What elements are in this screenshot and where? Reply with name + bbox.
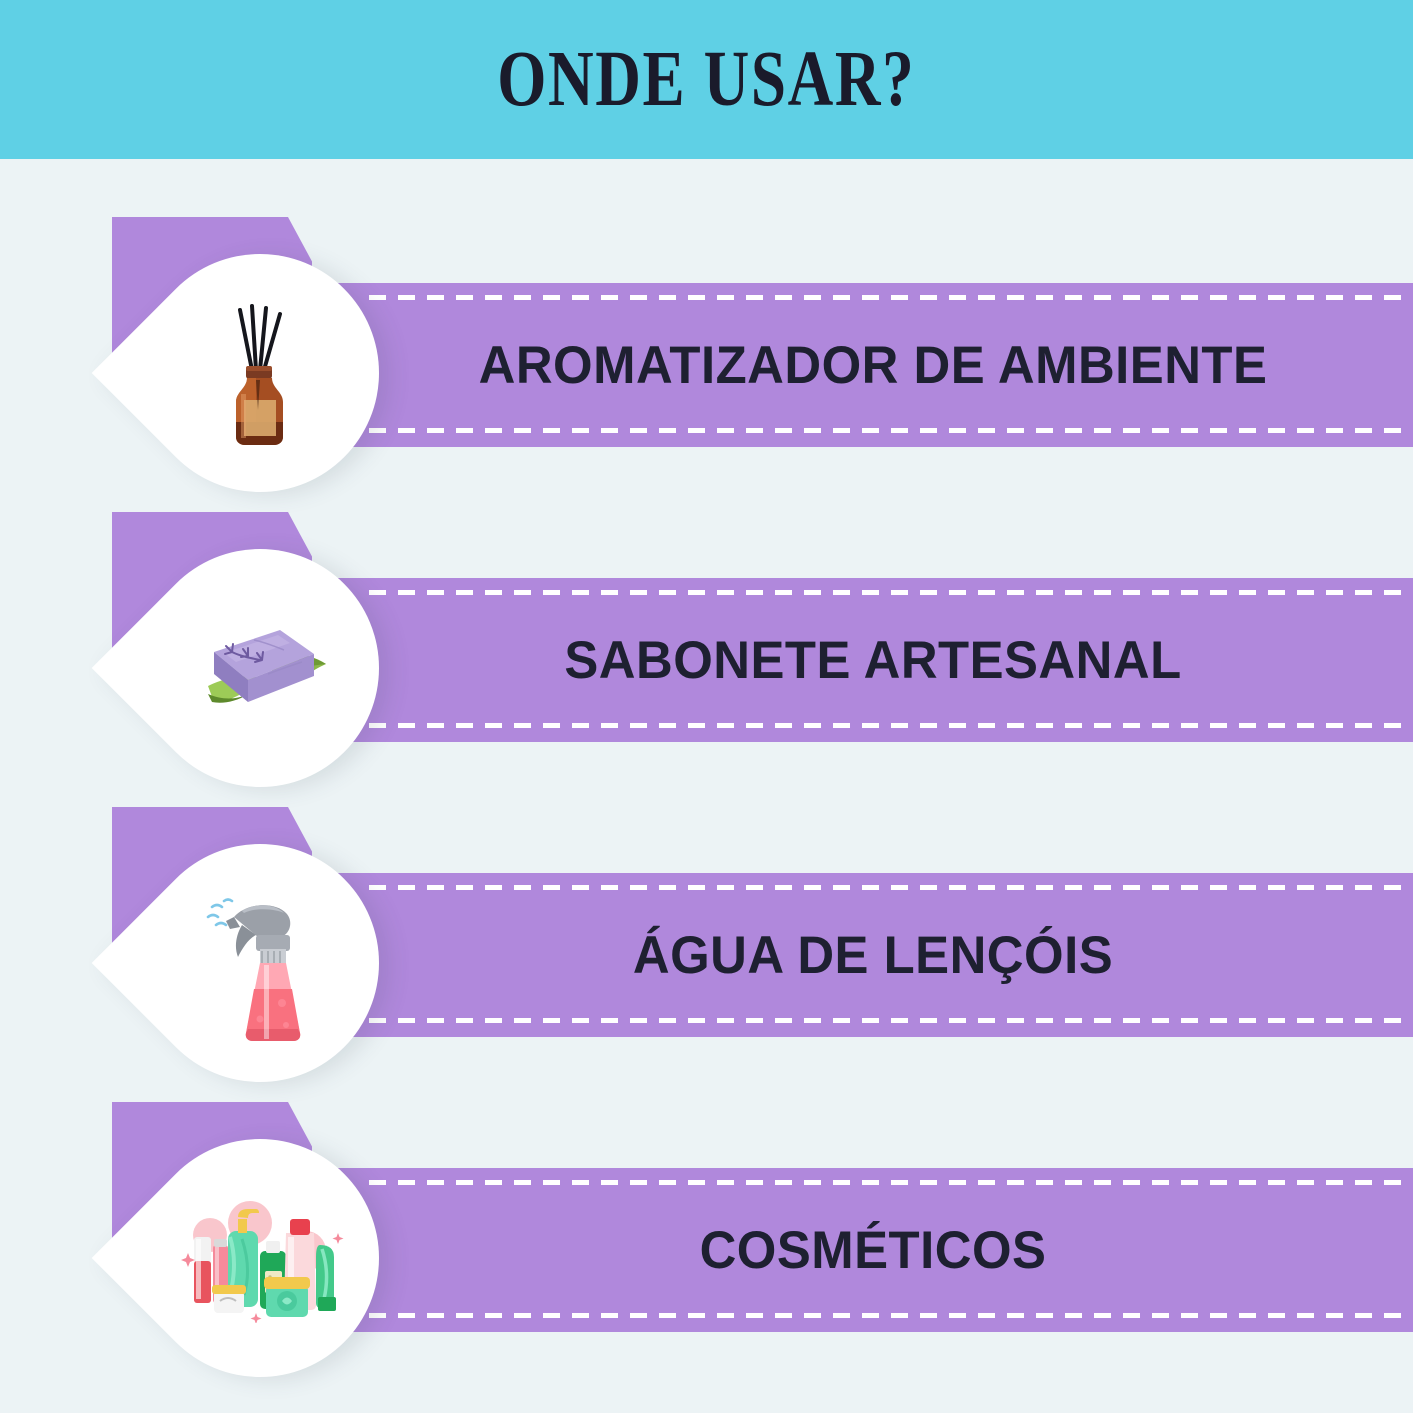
icon-teardrop [92, 795, 429, 1132]
icon-teardrop [92, 205, 429, 542]
icon-teardrop [92, 500, 429, 837]
label-ribbon: AROMATIZADOR DE AMBIENTE [333, 283, 1413, 447]
row-label: COSMÉTICOS [355, 1168, 1392, 1332]
row-label: SABONETE ARTESANAL [355, 578, 1392, 742]
list-item[interactable]: COSMÉTICOS [0, 1095, 1413, 1390]
cosmetics-group-icon [141, 1139, 379, 1377]
list-item[interactable]: SABONETE ARTESANAL [0, 505, 1413, 800]
label-ribbon: SABONETE ARTESANAL [333, 578, 1413, 742]
row-label: AROMATIZADOR DE AMBIENTE [355, 283, 1392, 447]
reed-diffuser-icon [141, 254, 379, 492]
list-item[interactable]: AROMATIZADOR DE AMBIENTE [0, 210, 1413, 505]
infographic-canvas: ONDE USAR? AROMATIZADOR DE AMBIENTE [0, 0, 1413, 1413]
header-banner: ONDE USAR? [0, 0, 1413, 159]
label-ribbon: COSMÉTICOS [333, 1168, 1413, 1332]
icon-teardrop [92, 1090, 429, 1413]
lavender-soap-bar-icon [141, 549, 379, 787]
spray-bottle-icon [141, 844, 379, 1082]
page-title: ONDE USAR? [497, 40, 915, 119]
label-ribbon: ÁGUA DE LENÇÓIS [333, 873, 1413, 1037]
row-label: ÁGUA DE LENÇÓIS [355, 873, 1392, 1037]
list-item[interactable]: ÁGUA DE LENÇÓIS [0, 800, 1413, 1095]
